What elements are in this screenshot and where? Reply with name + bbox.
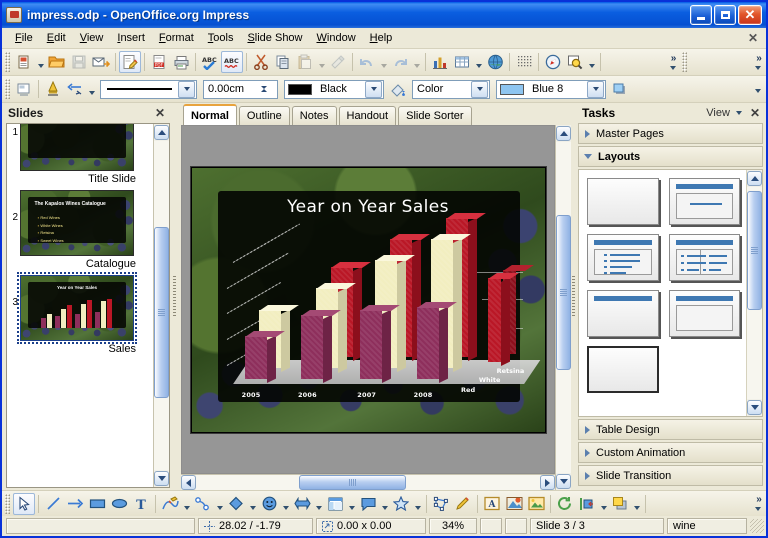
status-slide-counter[interactable]: Slide 3 / 3 <box>530 518 664 534</box>
slides-scrollbar[interactable] <box>153 124 169 487</box>
display-grid-icon[interactable] <box>513 51 535 73</box>
alignment-icon[interactable] <box>576 493 598 515</box>
section-label: Master Pages <box>596 128 664 140</box>
flowchart-dropdown-icon[interactable] <box>346 493 357 515</box>
toolbar-separator <box>477 495 478 513</box>
layout-title-content-box[interactable] <box>669 290 741 337</box>
close-button[interactable]: ✕ <box>738 5 762 25</box>
zoom-dropdown-icon[interactable] <box>586 51 597 73</box>
tab-outline[interactable]: Outline <box>239 106 290 125</box>
toolbar-separator <box>144 53 145 71</box>
line-width-stepper[interactable] <box>261 77 276 101</box>
bar-2008-red <box>417 307 439 379</box>
layout-title-bullets[interactable] <box>587 234 659 281</box>
chevron-right-icon <box>585 426 590 434</box>
cursor-position-value: 28.02 / -1.79 <box>219 520 281 532</box>
slide-number: 3 <box>9 275 20 308</box>
slide-thumb-bullets: Red Wines White Wines Retsina Sweet Wine… <box>38 214 64 244</box>
connector-icon[interactable] <box>192 493 214 515</box>
work-area: Normal Outline Notes Handout Slide Sorte… <box>177 103 571 490</box>
slide-thumb-title: The Kapalos Wines Catalogue <box>34 201 126 209</box>
bullet-item: White Wines <box>38 222 64 230</box>
scroll-thumb[interactable] <box>154 227 169 398</box>
slides-panel: Slides ✕ 1 Fine wines from Greek Island … <box>2 103 172 490</box>
bar-depth-right-1 <box>488 278 501 362</box>
section-label: Layouts <box>598 151 640 163</box>
paste-icon[interactable] <box>294 51 316 73</box>
menu-format[interactable]: Format <box>152 30 201 46</box>
points-icon[interactable] <box>430 493 452 515</box>
fontwork-gallery-icon[interactable]: A <box>481 493 503 515</box>
scroll-up-icon[interactable] <box>556 126 571 141</box>
close-icon[interactable]: ✕ <box>748 106 762 120</box>
line-color-swatch <box>288 84 312 95</box>
overflow-triangle-icon <box>755 507 761 511</box>
status-object-size[interactable]: 0.00 x 0.00 <box>316 518 426 534</box>
menu-bar: File Edit View Insert Format Tools Slide… <box>2 28 766 49</box>
symbol-shapes-dropdown-icon[interactable] <box>280 493 291 515</box>
line-and-fill-toolbar: 0.00cm Black Color Blue 8 <box>2 76 766 103</box>
toolbar-separator <box>538 53 539 71</box>
bullet-item: Red Wines <box>38 214 64 222</box>
status-signature-indicator[interactable] <box>505 518 527 534</box>
scroll-track[interactable] <box>154 141 169 470</box>
gallery-icon[interactable] <box>525 493 547 515</box>
resize-grip[interactable] <box>750 519 764 533</box>
bullet-item: Retsina <box>38 229 64 237</box>
scroll-up-icon[interactable] <box>747 171 762 186</box>
slide-thumb-title: Year on Year Sales <box>21 285 133 290</box>
fill-type-combo[interactable]: Color <box>412 80 490 99</box>
series-label-red: Red <box>461 386 475 394</box>
overflow-triangle-icon <box>670 66 676 70</box>
connector-dropdown-icon[interactable] <box>214 493 225 515</box>
status-zoom[interactable]: 34% <box>429 518 477 534</box>
copy-icon[interactable] <box>272 51 294 73</box>
alignment-dropdown-icon[interactable] <box>598 493 609 515</box>
thumb-chart <box>37 296 122 328</box>
scroll-down-icon[interactable] <box>154 471 169 486</box>
navigator-icon[interactable] <box>542 51 564 73</box>
stepper-down-icon[interactable] <box>261 89 276 101</box>
axis-label-2008: 2008 <box>414 391 433 399</box>
tasks-panel-title: Tasks <box>582 106 615 120</box>
scroll-right-icon[interactable] <box>540 475 555 490</box>
chevron-down-icon[interactable] <box>365 81 382 98</box>
section-label: Slide Transition <box>596 470 671 482</box>
line-color-combo[interactable]: Black <box>284 80 384 99</box>
menu-view[interactable]: View <box>73 30 111 46</box>
line-icon[interactable] <box>42 493 64 515</box>
bar-2005-red <box>245 336 267 379</box>
line-endpoint-icon[interactable] <box>42 78 64 100</box>
drawing-toolbar-grip[interactable] <box>5 494 10 514</box>
slides-panel-title: Slides <box>8 106 43 120</box>
svg-text:A: A <box>488 500 497 510</box>
section-slide-transition[interactable]: Slide Transition <box>578 465 763 486</box>
email-document-icon[interactable] <box>90 51 112 73</box>
slide-page[interactable]: Year on Year Sales <box>191 167 546 433</box>
chevron-down-icon <box>584 154 592 159</box>
stars-icon[interactable] <box>390 493 412 515</box>
select-icon[interactable] <box>13 493 35 515</box>
rotate-icon[interactable] <box>554 493 576 515</box>
drawing-toolbar-overflow[interactable]: » <box>751 492 765 516</box>
impress-document-icon <box>6 7 22 23</box>
menu-file[interactable]: File <box>8 30 40 46</box>
chevron-down-icon[interactable] <box>178 81 195 98</box>
insert-table-dropdown-icon[interactable] <box>473 51 484 73</box>
chevron-down-icon[interactable] <box>471 81 488 98</box>
ellipse-icon[interactable] <box>108 493 130 515</box>
status-master-name[interactable]: wine <box>667 518 747 534</box>
slide-number: 2 <box>9 190 20 223</box>
tasks-view-label[interactable]: View <box>706 107 730 119</box>
area-style-icon[interactable] <box>387 78 409 100</box>
sales-chart[interactable]: 2005 2006 2007 2008 Red White Retsina <box>227 236 524 397</box>
layout-title-only[interactable] <box>587 290 659 337</box>
scroll-track[interactable] <box>556 142 571 473</box>
toolbar-grip[interactable] <box>5 52 10 72</box>
main-body: Slides ✕ 1 Fine wines from Greek Island … <box>2 103 766 490</box>
slide-number: 1 <box>9 124 20 138</box>
status-modified-indicator[interactable] <box>480 518 502 534</box>
layouts-pane <box>578 169 763 417</box>
list-item[interactable]: 1 Fine wines from Greek Island Vineyards… <box>7 124 153 189</box>
callouts-dropdown-icon[interactable] <box>379 493 390 515</box>
close-icon: ✕ <box>745 9 756 21</box>
layout-centered-text[interactable] <box>587 346 659 393</box>
toolbar-separator <box>38 495 39 513</box>
close-icon[interactable]: ✕ <box>152 106 168 120</box>
slides-panel-header: Slides ✕ <box>2 103 172 123</box>
series-label-white: White <box>479 376 501 384</box>
window-title: impress.odp - OpenOffice.org Impress <box>27 8 249 22</box>
line-style-preview <box>107 88 172 90</box>
new-document-icon[interactable] <box>13 51 35 73</box>
line-color-value: Black <box>316 83 365 95</box>
edit-file-icon[interactable] <box>119 51 141 73</box>
slide-thumbnail-2[interactable]: The Kapalos Wines Catalogue Red Wines Wh… <box>20 190 134 256</box>
clone-formatting-icon[interactable] <box>327 51 349 73</box>
line-width-field[interactable]: 0.00cm <box>203 80 278 99</box>
tab-handout[interactable]: Handout <box>339 106 397 125</box>
overflow-chevron-icon-2: » <box>756 55 760 63</box>
arrange-icon[interactable] <box>609 493 631 515</box>
line-style-combo[interactable] <box>100 80 197 99</box>
line-fill-overflow[interactable] <box>751 77 765 101</box>
slide-canvas[interactable]: Year on Year Sales <box>181 125 555 474</box>
layout-title-two-bullets[interactable] <box>669 234 741 281</box>
print-icon[interactable] <box>170 51 192 73</box>
axis-label-2005: 2005 <box>242 391 261 399</box>
overflow-chevron-icon: » <box>671 55 675 63</box>
slides-list[interactable]: 1 Fine wines from Greek Island Vineyards… <box>7 124 153 487</box>
menu-help[interactable]: Help <box>363 30 400 46</box>
impress-window: impress.odp - OpenOffice.org Impress ✕ F… <box>0 0 768 538</box>
tasks-sections: Master Pages Layouts <box>578 123 763 488</box>
standard-toolbar-overflow[interactable]: » <box>666 50 680 74</box>
insert-table-icon[interactable] <box>451 51 473 73</box>
insert-chart-icon[interactable] <box>429 51 451 73</box>
glue-points-icon[interactable] <box>452 493 474 515</box>
section-table-design[interactable]: Table Design <box>578 419 763 440</box>
callouts-icon[interactable] <box>357 493 379 515</box>
tasks-panel-header: Tasks View ✕ <box>576 103 766 123</box>
toolbar-separator <box>425 53 426 71</box>
fill-color-combo[interactable]: Blue 8 <box>496 80 606 99</box>
section-label: Custom Animation <box>596 447 685 459</box>
shadow-icon[interactable] <box>609 78 631 100</box>
toolbar-grip-2[interactable] <box>682 52 687 72</box>
menu-window[interactable]: Window <box>310 30 363 46</box>
fill-color-swatch <box>500 84 524 95</box>
toolbar-separator <box>645 495 646 513</box>
object-size-value: 0.00 x 0.00 <box>337 520 391 532</box>
position-icon <box>204 521 215 532</box>
block-arrows-icon[interactable] <box>291 493 313 515</box>
toolbar-separator <box>426 495 427 513</box>
slide-thumbnail-1[interactable]: Fine wines from Greek Island Vineyards <box>20 124 134 171</box>
text-box-icon[interactable]: T <box>130 493 152 515</box>
slide-properties-icon[interactable] <box>13 78 35 100</box>
arrow-line-icon[interactable] <box>64 493 86 515</box>
menu-tools[interactable]: Tools <box>201 30 241 46</box>
section-master-pages[interactable]: Master Pages <box>578 123 763 144</box>
bullet-item: Sweet Wines <box>38 237 64 245</box>
scroll-left-icon[interactable] <box>181 475 196 490</box>
title-bar: impress.odp - OpenOffice.org Impress ✕ <box>2 2 766 28</box>
minimize-button[interactable] <box>690 5 712 25</box>
canvas-vscrollbar[interactable] <box>555 125 571 490</box>
curve-icon[interactable] <box>159 493 181 515</box>
fill-type-value: Color <box>413 83 471 95</box>
autospellcheck-icon[interactable]: ABC <box>221 51 243 73</box>
canvas-hscrollbar[interactable] <box>181 474 555 490</box>
chevron-right-icon <box>585 449 590 457</box>
tab-slide-sorter[interactable]: Slide Sorter <box>398 106 471 125</box>
basic-shapes-icon[interactable] <box>225 493 247 515</box>
stars-dropdown-icon[interactable] <box>412 493 423 515</box>
bar-2006-red <box>301 315 323 379</box>
thumb-dark-panel <box>28 124 127 158</box>
section-label: Table Design <box>596 424 660 436</box>
overflow-triangle-icon-3 <box>755 89 761 93</box>
section-layouts[interactable]: Layouts <box>578 146 763 167</box>
scroll-down-icon[interactable] <box>556 474 571 489</box>
toolbar-separator <box>600 53 601 71</box>
line-width-value: 0.00cm <box>204 83 261 95</box>
chevron-down-icon[interactable] <box>587 81 604 98</box>
chevron-right-icon <box>585 472 590 480</box>
toolbar-separator <box>246 53 247 71</box>
toolbar-separator <box>38 80 39 98</box>
toolbar-separator <box>115 53 116 71</box>
tab-notes[interactable]: Notes <box>292 106 337 125</box>
status-bar: 28.02 / -1.79 0.00 x 0.00 34% Slide 3 / … <box>2 516 766 536</box>
from-file-icon[interactable] <box>503 493 525 515</box>
list-item[interactable]: 3 Year on Year Sales <box>7 274 153 359</box>
flowchart-icon[interactable] <box>324 493 346 515</box>
svg-text:ABC: ABC <box>224 57 239 65</box>
drawing-toolbar: T <box>2 490 766 516</box>
spelling-icon[interactable]: ABC <box>199 51 221 73</box>
layouts-grid <box>579 170 746 416</box>
scroll-thumb[interactable] <box>747 191 762 310</box>
maximize-button[interactable] <box>714 5 736 25</box>
scroll-up-icon[interactable] <box>154 125 169 140</box>
basic-shapes-dropdown-icon[interactable] <box>247 493 258 515</box>
symbol-shapes-icon[interactable] <box>258 493 280 515</box>
open-icon[interactable] <box>46 51 68 73</box>
new-document-dropdown-icon[interactable] <box>35 51 46 73</box>
slide-name-3: Sales <box>20 341 138 359</box>
size-icon <box>322 521 333 532</box>
scroll-track[interactable] <box>747 187 762 399</box>
undo-dropdown-icon[interactable] <box>378 51 389 73</box>
slide-name-2: Catalogue <box>20 256 138 274</box>
export-pdf-icon[interactable]: PDF <box>148 51 170 73</box>
bar-2007-red <box>360 310 382 379</box>
series-label-retsina: Retsina <box>497 367 525 375</box>
hscroll-track[interactable] <box>196 475 540 490</box>
arrange-dropdown-icon[interactable] <box>631 493 642 515</box>
axis-label-2006: 2006 <box>298 391 317 399</box>
toolbar-separator <box>550 495 551 513</box>
status-info <box>6 518 195 534</box>
fill-color-value: Blue 8 <box>528 83 587 95</box>
menu-insert[interactable]: Insert <box>110 30 152 46</box>
redo-icon[interactable] <box>389 51 411 73</box>
overflow-triangle-icon-2 <box>755 66 761 70</box>
svg-text:T: T <box>136 498 146 511</box>
arrow-style-dropdown-icon[interactable] <box>86 78 97 100</box>
overflow-chevron-icon: » <box>756 496 760 504</box>
curve-dropdown-icon[interactable] <box>181 493 192 515</box>
scroll-thumb[interactable] <box>556 215 571 371</box>
chevron-down-icon[interactable] <box>736 111 742 115</box>
redo-dropdown-icon[interactable] <box>411 51 422 73</box>
menu-slide-show[interactable]: Slide Show <box>240 30 309 46</box>
cut-icon[interactable] <box>250 51 272 73</box>
block-arrows-dropdown-icon[interactable] <box>313 493 324 515</box>
slide-title[interactable]: Year on Year Sales <box>192 197 545 217</box>
window-controls: ✕ <box>690 5 764 25</box>
layouts-scrollbar[interactable] <box>746 170 762 416</box>
scroll-down-icon[interactable] <box>747 400 762 415</box>
status-cursor-position[interactable]: 28.02 / -1.79 <box>198 518 313 534</box>
close-document-icon[interactable]: ✕ <box>748 31 758 45</box>
toolbar-separator <box>195 53 196 71</box>
paste-dropdown-icon[interactable] <box>316 51 327 73</box>
standard-toolbar-overflow-2[interactable]: » <box>751 50 765 74</box>
view-tabs: Normal Outline Notes Handout Slide Sorte… <box>177 103 571 125</box>
section-custom-animation[interactable]: Custom Animation <box>578 442 763 463</box>
svg-text:PDF: PDF <box>155 62 164 67</box>
line-fill-grip[interactable] <box>5 79 10 99</box>
layout-title-content[interactable] <box>669 178 741 225</box>
tasks-panel: Tasks View ✕ Master Pages Layouts <box>576 103 766 490</box>
save-icon[interactable] <box>68 51 90 73</box>
slide-name-1: Title Slide <box>20 171 138 189</box>
toolbar-separator <box>509 53 510 71</box>
insert-image-icon[interactable] <box>484 51 506 73</box>
canvas-area: Year on Year Sales <box>177 125 571 490</box>
tab-normal[interactable]: Normal <box>183 104 237 125</box>
layout-blank[interactable] <box>587 178 659 225</box>
hscroll-thumb[interactable] <box>299 475 406 490</box>
slides-list-container: 1 Fine wines from Greek Island Vineyards… <box>6 123 170 488</box>
toolbar-separator <box>155 495 156 513</box>
toolbar-separator <box>352 53 353 71</box>
standard-toolbar: PDF ABC ABC <box>2 49 766 76</box>
zoom-icon[interactable] <box>564 51 586 73</box>
slide-thumbnail-3[interactable]: Year on Year Sales <box>20 275 134 341</box>
rectangle-icon[interactable] <box>86 493 108 515</box>
undo-icon[interactable] <box>356 51 378 73</box>
arrow-style-icon[interactable] <box>64 78 86 100</box>
menu-edit[interactable]: Edit <box>40 30 73 46</box>
chevron-right-icon <box>585 130 590 138</box>
list-item[interactable]: 2 The Kapalos Wines Catalogue Red Wines … <box>7 189 153 274</box>
axis-label-2007: 2007 <box>357 391 376 399</box>
